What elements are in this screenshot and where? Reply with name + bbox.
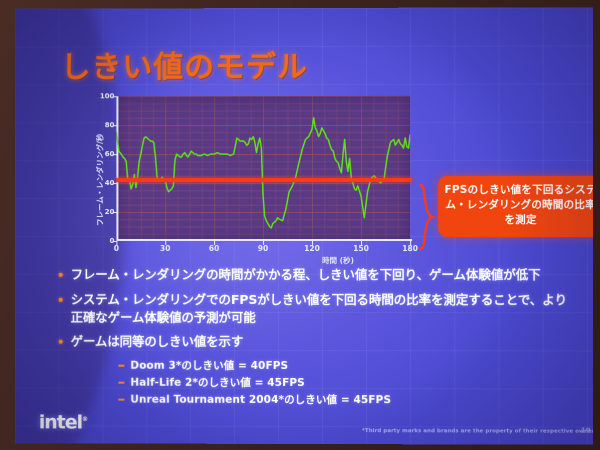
x-axis-ticks: 0306090120150180 [91,92,421,93]
x-axis-tick-mark [263,241,264,245]
projected-slide-photo: しきい値のモデル 020406080100 0306090120150180 フ… [0,0,600,450]
sub-bullet-text: Half-Life 2*のしきい値 = 45FPS [130,375,304,390]
sub-bullet-text: Doom 3*のしきい値 = 40FPS [130,358,288,373]
bullet-text: ゲームは同等のしきい値を示す [71,333,244,351]
sub-bullet-item: Doom 3*のしきい値 = 40FPS [118,358,570,374]
x-axis-tick-mark [361,241,362,245]
bullet-item: システム・レンダリングでのFPSがしきい値を下回る時間の比率を測定することで、よ… [59,291,571,327]
bullet-text: システム・レンダリングでのFPSがしきい値を下回る時間の比率を測定することで、よ… [71,291,571,327]
x-axis-tick-label: 180 [402,244,418,253]
page-title: しきい値のモデル [61,42,308,86]
presentation-slide: しきい値のモデル 020406080100 0306090120150180 フ… [15,7,593,444]
x-axis-label: 時間 (秒) [322,255,354,266]
callout-box: FPSのしきい値を下回るシステム・レンダリングの時間の比率を測定 [438,176,593,237]
x-axis-tick-label: 30 [160,244,170,253]
x-axis-tick-label: 0 [114,244,119,253]
bullet-list: フレーム・レンダリングの時間がかかる程、しきい値を下回り、ゲーム体験値が低下 シ… [59,266,571,410]
dash-icon [118,382,124,384]
bullet-dot-icon [59,298,63,302]
sub-bullet-item: Half-Life 2*のしきい値 = 45FPS [118,375,570,391]
sub-bullet-list: Doom 3*のしきい値 = 40FPS Half-Life 2*のしきい値 =… [118,358,570,408]
dash-icon [118,399,124,401]
bullet-item: ゲームは同等のしきい値を示す [59,333,571,351]
page-number: 19 [581,427,591,435]
y-axis-ticks: 020406080100 [91,92,421,93]
fps-threshold-chart: 020406080100 0306090120150180 フレーム・レンダリン… [91,92,421,264]
x-axis-tick-label: 90 [258,244,268,253]
y-axis-label: フレーム・レンダリング/秒 [95,94,106,226]
intel-logo-text: intel [39,411,82,433]
sub-bullet-text: Unreal Tournament 2004*のしきい値 = 45FPS [130,392,391,408]
threshold-line [116,178,412,182]
bullet-dot-icon [59,340,63,344]
x-axis-tick-mark [116,241,117,245]
x-axis-tick-mark [312,241,313,245]
x-axis-tick-mark [410,241,411,245]
sub-bullet-item: Unreal Tournament 2004*のしきい値 = 45FPS [118,392,570,408]
intel-logo: intel® [39,411,88,433]
dash-icon [118,365,124,367]
bullet-text: フレーム・レンダリングの時間がかかる程、しきい値を下回り、ゲーム体験値が低下 [71,266,541,284]
x-axis-tick-label: 60 [209,244,219,253]
below-threshold-bracket [418,183,436,251]
x-axis-tick-mark [214,241,215,245]
x-axis-tick-label: 120 [304,244,320,253]
fps-data-series [116,96,410,241]
bullet-dot-icon [59,273,63,277]
bullet-item: フレーム・レンダリングの時間がかかる程、しきい値を下回り、ゲーム体験値が低下 [59,266,571,284]
x-axis-tick-mark [165,241,166,245]
legal-disclaimer: *Third party marks and brands are the pr… [362,428,593,435]
x-axis-tick-label: 150 [353,244,369,253]
registered-trademark-icon: ® [82,416,88,423]
